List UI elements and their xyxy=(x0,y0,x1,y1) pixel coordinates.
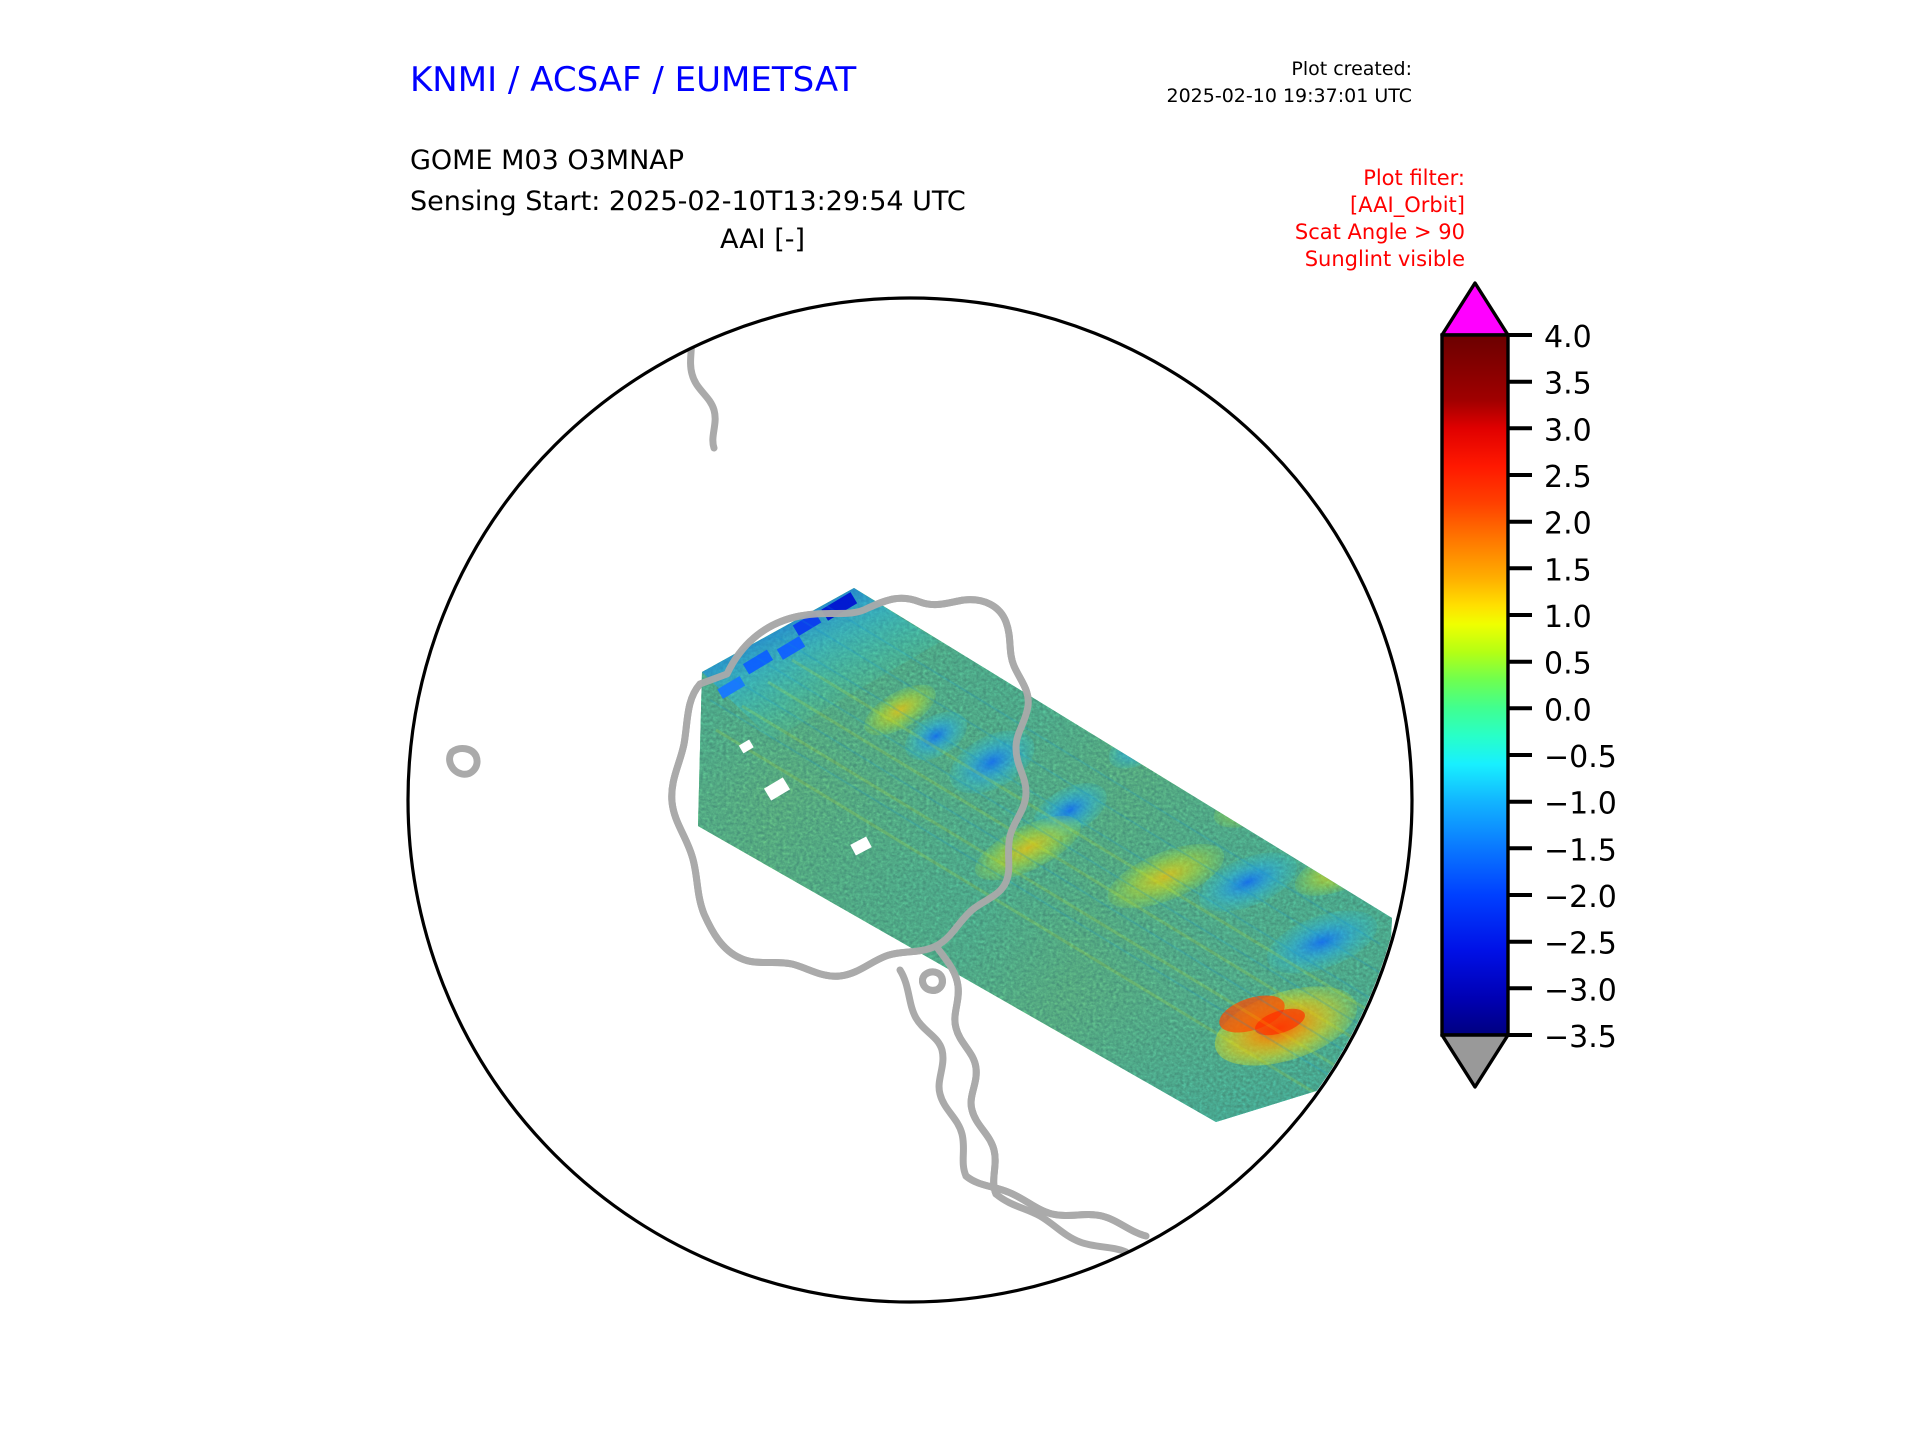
instrument-line: GOME M03 O3MNAP xyxy=(410,140,966,181)
colorbar-tick-1: 3.5 xyxy=(1508,367,1592,402)
colorbar-tick-0: 4.0 xyxy=(1508,320,1592,355)
plot-filter-line-0: [AAI_Orbit] xyxy=(1295,192,1465,219)
colorbar-tick-7: 0.5 xyxy=(1508,647,1592,682)
colorbar-tick-label: −2.5 xyxy=(1544,927,1617,962)
colorbar-tick-label: 1.0 xyxy=(1544,600,1592,635)
colorbar-tick-12: −2.0 xyxy=(1508,880,1617,915)
colorbar-tick-13: −2.5 xyxy=(1508,927,1617,962)
colorbar-tick-label: −1.0 xyxy=(1544,787,1617,822)
colorbar-tick-label: 2.0 xyxy=(1544,507,1592,542)
colorbar-tick-3: 2.5 xyxy=(1508,460,1592,495)
colorbar-tick-label: 0.0 xyxy=(1544,693,1592,728)
plot-created-label: Plot created: xyxy=(1167,56,1413,83)
colorbar-tick-label: −0.5 xyxy=(1544,740,1617,775)
colorbar-tick-9: −0.5 xyxy=(1508,740,1617,775)
colorbar-tick-label: −3.5 xyxy=(1544,1020,1617,1055)
colorbar-tick-label: 2.5 xyxy=(1544,460,1592,495)
colorbar-ticks: 4.0 3.5 3.0 2.5 2.0 xyxy=(1508,320,1617,1055)
plot-created-value: 2025-02-10 19:37:01 UTC xyxy=(1167,83,1413,110)
plot-canvas: KNMI / ACSAF / EUMETSAT Plot created: 20… xyxy=(0,0,1920,1440)
plot-filter-block: Plot filter: [AAI_Orbit] Scat Angle > 90… xyxy=(1295,165,1465,273)
sensing-start-line: Sensing Start: 2025-02-10T13:29:54 UTC xyxy=(410,181,966,222)
plot-filter-line-1: Scat Angle > 90 xyxy=(1295,219,1465,246)
colorbar-gradient xyxy=(1442,335,1508,1035)
plot-filter-title: Plot filter: xyxy=(1295,165,1465,192)
island-upper-1 xyxy=(614,284,658,324)
colorbar-tick-label: 4.0 xyxy=(1544,320,1592,355)
plot-title-block: GOME M03 O3MNAP Sensing Start: 2025-02-1… xyxy=(410,140,966,222)
tasmania-outline xyxy=(534,329,576,364)
colorbar: 4.0 3.5 3.0 2.5 2.0 xyxy=(1420,275,1760,1095)
colorbar-tick-label: −3.0 xyxy=(1544,973,1617,1008)
organisation-title: KNMI / ACSAF / EUMETSAT xyxy=(410,60,856,100)
variable-title: AAI [-] xyxy=(410,224,1115,255)
colorbar-tick-label: 3.0 xyxy=(1544,413,1592,448)
colorbar-tick-6: 1.0 xyxy=(1508,600,1592,635)
colorbar-tick-label: 0.5 xyxy=(1544,647,1592,682)
colorbar-tick-10: −1.0 xyxy=(1508,787,1617,822)
colorbar-tick-15: −3.5 xyxy=(1508,1020,1617,1055)
colorbar-over-arrow xyxy=(1442,283,1508,335)
colorbar-tick-5: 1.5 xyxy=(1508,553,1592,588)
plot-filter-line-2: Sunglint visible xyxy=(1295,246,1465,273)
colorbar-tick-14: −3.0 xyxy=(1508,973,1617,1008)
colorbar-tick-2: 3.0 xyxy=(1508,413,1592,448)
map-area xyxy=(380,270,1440,1330)
colorbar-tick-4: 2.0 xyxy=(1508,507,1592,542)
plot-created-block: Plot created: 2025-02-10 19:37:01 UTC xyxy=(1167,56,1413,110)
colorbar-tick-label: 3.5 xyxy=(1544,367,1592,402)
colorbar-under-arrow xyxy=(1442,1035,1508,1087)
colorbar-svg: 4.0 3.5 3.0 2.5 2.0 xyxy=(1420,275,1760,1095)
colorbar-tick-label: −2.0 xyxy=(1544,880,1617,915)
colorbar-tick-label: −1.5 xyxy=(1544,833,1617,868)
polar-map xyxy=(380,270,1440,1330)
colorbar-tick-11: −1.5 xyxy=(1508,833,1617,868)
colorbar-tick-label: 1.5 xyxy=(1544,553,1592,588)
colorbar-tick-8: 0.0 xyxy=(1508,693,1592,728)
